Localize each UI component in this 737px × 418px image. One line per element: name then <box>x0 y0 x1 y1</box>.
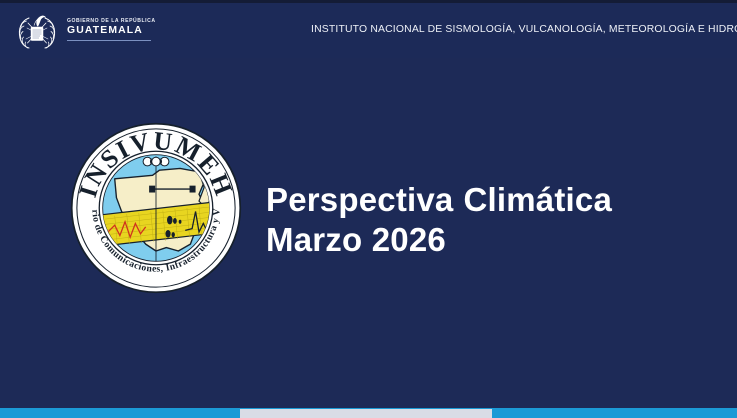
insivumeh-seal: INSIVUMEH Ministerio de Comunicaciones, … <box>70 122 242 294</box>
title-word-climatica: Climática <box>464 181 613 218</box>
government-logo-line1: GOBIERNO DE LA REPÚBLICA <box>67 19 156 24</box>
footer-accent-segment <box>240 409 492 418</box>
title-word-perspectiva: Perspectiva <box>266 181 454 218</box>
government-logo-text: GOBIERNO DE LA REPÚBLICA GUATEMALA <box>67 19 156 41</box>
government-logo-line2: GUATEMALA <box>67 26 156 36</box>
institute-name: INSTITUTO NACIONAL DE SISMOLOGÍA, VULCAN… <box>311 24 737 35</box>
presentation-slide: GOBIERNO DE LA REPÚBLICA GUATEMALA INSTI… <box>0 0 737 418</box>
title-line-1: PerspectivaClimática <box>266 180 706 220</box>
slide-header: GOBIERNO DE LA REPÚBLICA GUATEMALA INSTI… <box>0 3 737 58</box>
guatemala-coat-of-arms-icon <box>14 8 60 52</box>
title-line-2: Marzo 2026 <box>266 220 706 260</box>
slide-title: PerspectivaClimática Marzo 2026 <box>266 180 706 261</box>
government-logo-underline <box>67 40 151 41</box>
government-logo: GOBIERNO DE LA REPÚBLICA GUATEMALA <box>14 8 156 52</box>
